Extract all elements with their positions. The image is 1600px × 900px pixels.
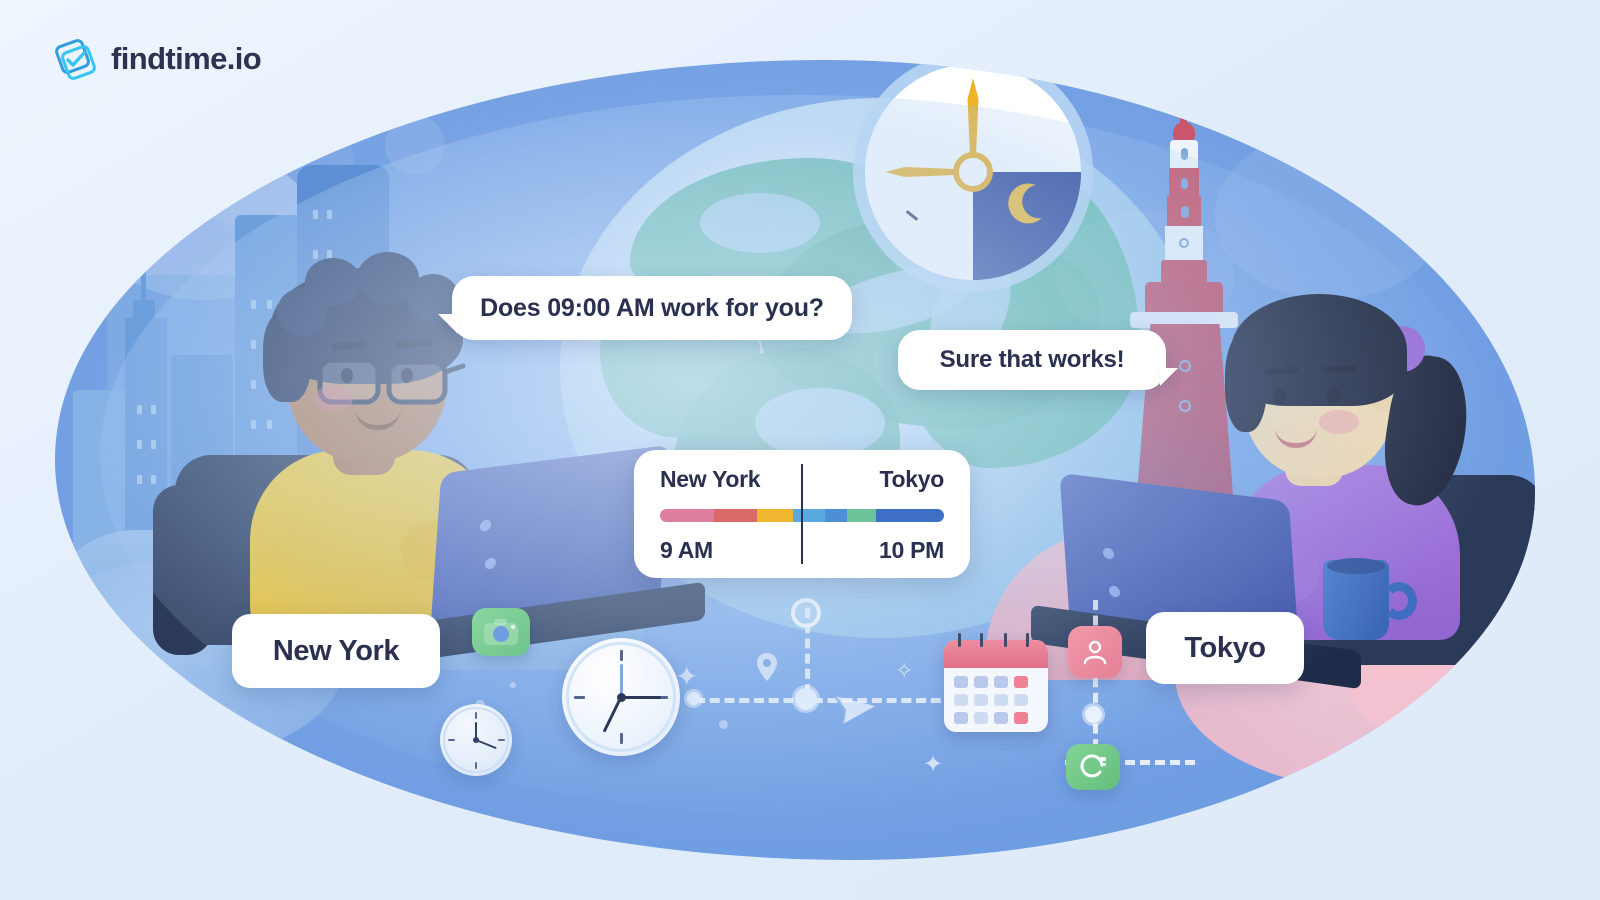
person-badge-icon[interactable]	[1068, 626, 1122, 678]
time-card-right-time: 10 PM	[879, 537, 944, 564]
check-diamond-icon	[52, 36, 98, 82]
time-card-right-city: Tokyo	[879, 466, 944, 493]
timezone-bar-segment	[847, 509, 875, 522]
crescent-moon-icon	[1003, 180, 1049, 226]
location-pill-tokyo[interactable]: Tokyo	[1146, 612, 1304, 684]
connector-node	[687, 692, 700, 705]
timezone-bar-segment	[757, 509, 794, 522]
timezone-bar-segment	[876, 509, 944, 522]
refresh-sync-icon[interactable]	[1066, 744, 1120, 790]
connector-node	[1085, 706, 1102, 723]
illustration-canvas: findtime.io	[0, 0, 1600, 900]
speech-bubble-text: Does 09:00 AM work for you?	[480, 294, 824, 323]
speech-bubble-text: Sure that works!	[940, 346, 1125, 374]
time-comparison-card[interactable]: New York Tokyo 9 AM 10 PM	[634, 450, 970, 578]
time-card-left-city: New York	[660, 466, 760, 493]
timezone-bar-segment	[660, 509, 714, 522]
brand-logo[interactable]: findtime.io	[52, 36, 261, 82]
brand-name: findtime.io	[111, 41, 261, 77]
paper-plane-icon	[833, 688, 877, 733]
analog-clock-small	[440, 704, 512, 776]
connector-node	[795, 688, 817, 710]
timezone-bar-segment	[793, 509, 824, 522]
speech-bubble-tokyo[interactable]: Sure that works!	[898, 330, 1166, 390]
time-card-left-time: 9 AM	[660, 537, 713, 564]
calendar-icon[interactable]	[944, 640, 1048, 732]
map-pin-icon	[755, 652, 779, 687]
timezone-bar-segment	[825, 509, 848, 522]
location-pill-label: Tokyo	[1184, 632, 1265, 665]
location-pill-label: New York	[273, 635, 399, 668]
camera-icon[interactable]	[472, 608, 530, 656]
timezone-bar-segment	[714, 509, 757, 522]
globe-node-icon	[791, 598, 821, 628]
location-pill-new-york[interactable]: New York	[232, 614, 440, 688]
analog-clock-large	[562, 638, 680, 756]
speech-bubble-new-york[interactable]: Does 09:00 AM work for you?	[452, 276, 852, 340]
bubble-tail	[1160, 368, 1178, 386]
day-night-clock	[853, 60, 1093, 292]
bubble-tail	[438, 314, 458, 334]
time-card-divider	[801, 464, 803, 564]
sparkle-icon: ✦	[923, 750, 943, 779]
sparkle-icon: ✧	[895, 658, 913, 684]
